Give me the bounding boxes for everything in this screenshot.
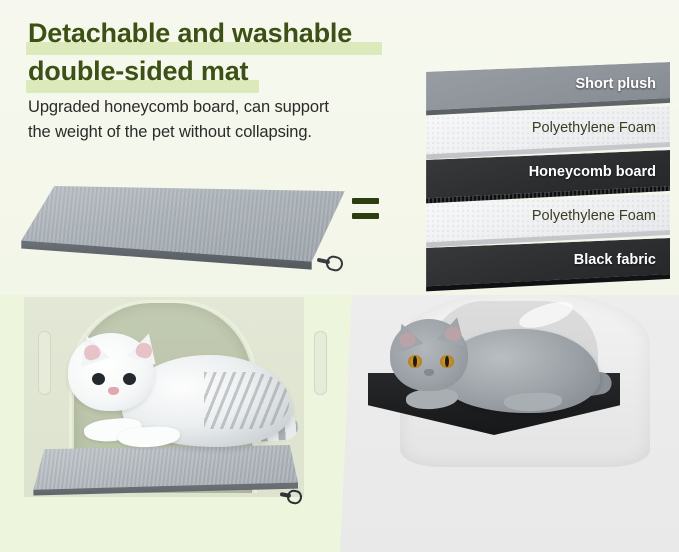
gray-cat-image bbox=[384, 305, 610, 433]
description-line2: the weight of the pet without collapsing… bbox=[28, 123, 312, 142]
zipper-pull-icon bbox=[280, 490, 302, 501]
layer-stack-diagram: Short plush Polyethylene Foam Honeycomb … bbox=[402, 62, 670, 274]
layer-label: Honeycomb board bbox=[529, 164, 656, 180]
comparison-section: Honeycomb board PP board VS bbox=[0, 295, 679, 552]
zipper-pull-icon bbox=[317, 256, 343, 268]
layer-label: Short plush bbox=[575, 76, 656, 92]
carrier-strap bbox=[314, 331, 327, 395]
layer-label: Black fabric bbox=[574, 252, 656, 268]
layer-label: Polyethylene Foam bbox=[532, 208, 656, 224]
layer-black-fabric: Black fabric bbox=[402, 238, 670, 300]
top-section: Detachable and washable double-sided mat… bbox=[0, 0, 679, 295]
description-line1: Upgraded honeycomb board, can support bbox=[28, 98, 329, 117]
equals-sign-icon bbox=[352, 198, 379, 224]
layer-label: Polyethylene Foam bbox=[532, 120, 656, 136]
product-mat-image bbox=[18, 186, 348, 274]
product-infographic: Detachable and washable double-sided mat… bbox=[0, 0, 679, 552]
comparison-panel-right bbox=[340, 295, 679, 552]
page-title-line1: Detachable and washable bbox=[28, 18, 352, 49]
page-title-line2: double-sided mat bbox=[28, 56, 248, 87]
carrier-strap bbox=[38, 331, 51, 395]
comparison-panel-left bbox=[0, 295, 352, 552]
white-cat-image bbox=[60, 319, 290, 469]
